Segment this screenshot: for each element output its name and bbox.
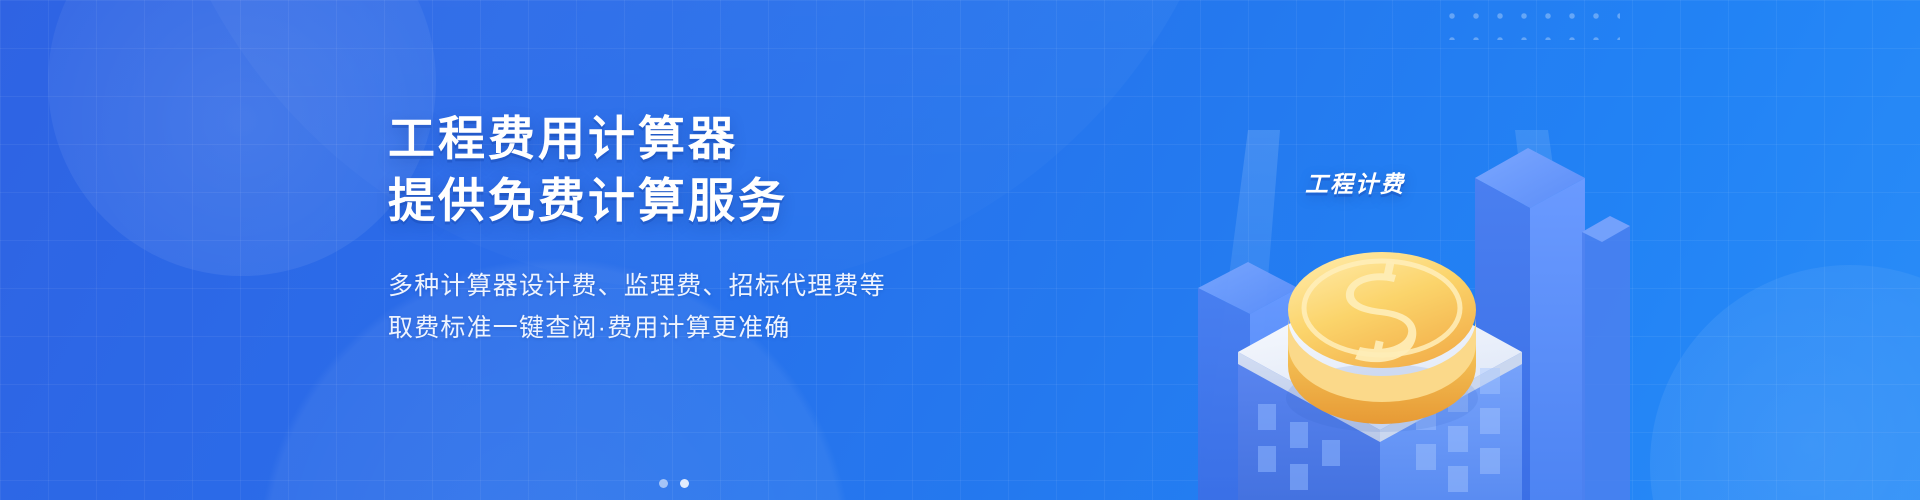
background-grid-pattern xyxy=(0,0,1920,500)
carousel-pagination[interactable] xyxy=(659,479,689,488)
isometric-city-coin-graphic xyxy=(1130,0,1630,500)
headline-line-1: 工程费用计算器 xyxy=(388,108,886,170)
background-circle-right xyxy=(1650,265,1920,500)
background-circle-top-left xyxy=(48,0,436,276)
subtitle-line-2: 取费标准一键查阅·费用计算更准确 xyxy=(388,307,886,349)
hero-illustration: 工程计费 xyxy=(1130,0,1630,500)
carousel-dot-1[interactable] xyxy=(659,479,668,488)
hero-banner: 工程费用计算器 提供免费计算服务 多种计算器设计费、监理费、招标代理费等 取费标… xyxy=(0,0,1920,500)
headline-line-2: 提供免费计算服务 xyxy=(388,170,886,232)
hero-text-block: 工程费用计算器 提供免费计算服务 多种计算器设计费、监理费、招标代理费等 取费标… xyxy=(388,108,886,349)
subtitle-line-1: 多种计算器设计费、监理费、招标代理费等 xyxy=(388,265,886,307)
carousel-dot-2[interactable] xyxy=(680,479,689,488)
illustration-badge-label: 工程计费 xyxy=(1305,165,1405,199)
